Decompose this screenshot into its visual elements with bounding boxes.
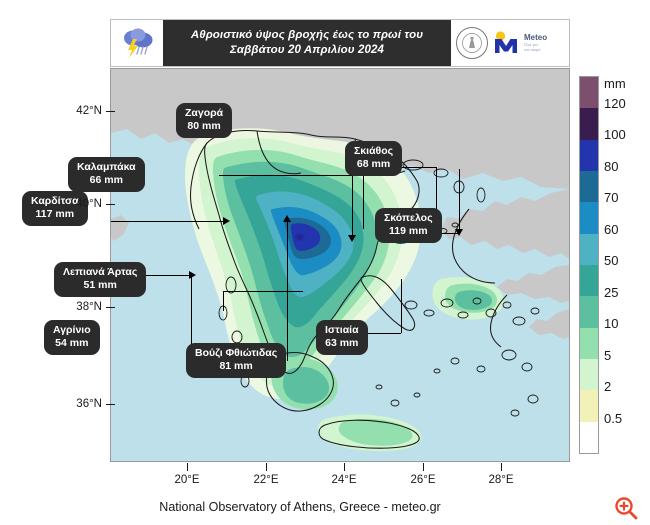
colorbar-band-10 <box>580 390 598 421</box>
callout-zagora-value: 80 mm <box>185 120 223 133</box>
zoom-in-icon[interactable] <box>613 495 639 521</box>
callout-zagora-name: Ζαγορά <box>185 107 223 119</box>
colorbar-band-4 <box>580 202 598 233</box>
xtick-mark-28e <box>501 463 502 471</box>
callout-lepiana-value: 51 mm <box>63 279 137 292</box>
callout-skopelos[interactable]: Σκόπελος 119 mm <box>375 208 442 243</box>
colorbar-band-5 <box>580 234 598 265</box>
callout-istiaia[interactable]: Ιστιαία 63 mm <box>316 320 368 355</box>
arrow-vouzi <box>283 215 291 222</box>
meteo-logo-name: Meteo <box>524 34 547 42</box>
callout-vouzi-name: Βούζι Φθιώτιδας <box>195 347 277 359</box>
callout-agrinio[interactable]: Αγρίνιο 54 mm <box>44 320 100 355</box>
callout-kalampaka-value: 66 mm <box>77 174 136 187</box>
meteo-logo: Meteo Όλα για τον καιρό <box>492 30 547 56</box>
header-banner: Αθροιστικό ύψος βροχής έως το πρωί του Σ… <box>110 19 570 67</box>
callout-agrinio-value: 54 mm <box>53 337 91 350</box>
colorbar-tick-05: 0.5 <box>604 411 622 426</box>
callout-kalampaka-name: Καλαμπάκα <box>77 161 136 173</box>
colorbar-band-6 <box>580 265 598 296</box>
colorbar-band-1 <box>580 108 598 139</box>
callout-skiathos-name: Σκιάθος <box>354 145 393 157</box>
weather-icon-box <box>111 20 163 66</box>
colorbar-tick-60: 60 <box>604 222 618 237</box>
colorbar-unit: mm <box>604 76 626 91</box>
colorbar-tick-2: 2 <box>604 379 611 394</box>
xtick-label-24e: 24°E <box>321 474 367 486</box>
colorbar-band-2 <box>580 140 598 171</box>
leader-karditsa <box>111 221 225 222</box>
colorbar-band-7 <box>580 296 598 327</box>
colorbar-band-8 <box>580 328 598 359</box>
colorbar-band-9 <box>580 359 598 390</box>
colorbar-tick-100: 100 <box>604 127 626 142</box>
leader-istiaia <box>401 279 402 333</box>
colorbar-tick-70: 70 <box>604 190 618 205</box>
ytick-mark-42n <box>106 111 115 112</box>
colorbar-band-11 <box>580 422 598 453</box>
colorbar-tick-5: 5 <box>604 348 611 363</box>
xtick-mark-26e <box>423 463 424 471</box>
callout-istiaia-value: 63 mm <box>325 337 359 350</box>
callout-skiathos-value: 68 mm <box>354 158 393 171</box>
callout-skopelos-name: Σκόπελος <box>384 212 433 224</box>
title-line-1: Αθροιστικό ύψος βροχής έως το πρωί του <box>191 28 423 43</box>
xtick-mark-24e <box>344 463 345 471</box>
title-line-2: Σαββάτου 20 Απριλίου 2024 <box>230 43 384 58</box>
ytick-mark-40n <box>106 204 115 205</box>
xtick-label-22e: 22°E <box>243 474 289 486</box>
ytick-label-36n: 36°N <box>56 398 102 410</box>
xtick-label-28e: 28°E <box>478 474 524 486</box>
header-logos: Meteo Όλα για τον καιρό <box>451 20 569 66</box>
callout-istiaia-name: Ιστιαία <box>325 324 359 336</box>
colorbar-tick-120: 120 <box>604 96 626 111</box>
callout-kalampaka[interactable]: Καλαμπάκα 66 mm <box>68 157 145 192</box>
callout-vouzi-value: 81 mm <box>195 360 277 373</box>
ytick-mark-38n <box>106 307 115 308</box>
callout-vouzi-fthiotidas[interactable]: Βούζι Φθιώτιδας 81 mm <box>186 343 286 378</box>
colorbar-band-0 <box>580 77 598 108</box>
callout-skiathos[interactable]: Σκιάθος 68 mm <box>345 141 402 176</box>
ytick-label-38n: 38°N <box>56 301 102 313</box>
ytick-mark-36n <box>106 404 115 405</box>
xtick-mark-22e <box>266 463 267 471</box>
meteo-logo-tagline-2: τον καιρό <box>524 47 547 52</box>
callout-skopelos-value: 119 mm <box>384 225 433 238</box>
xtick-label-20e: 20°E <box>164 474 210 486</box>
colorbar-tick-25: 25 <box>604 285 618 300</box>
xtick-label-26e: 26°E <box>400 474 446 486</box>
callout-lepiana-name: Λεπιανά Άρτας <box>63 266 137 278</box>
arrow-agrinio <box>189 271 196 279</box>
colorbar-tick-10: 10 <box>604 316 618 331</box>
thunderstorm-rain-icon <box>117 25 157 61</box>
ytick-label-42n: 42°N <box>56 105 102 117</box>
callout-agrinio-name: Αγρίνιο <box>53 324 91 336</box>
arrow-kalampaka <box>348 235 356 242</box>
footer-credit: National Observatory of Athens, Greece -… <box>0 500 600 514</box>
colorbar-band-3 <box>580 171 598 202</box>
callout-zagora[interactable]: Ζαγορά 80 mm <box>176 103 232 138</box>
leader-skopelos <box>459 169 460 231</box>
leader-kalampaka <box>219 175 353 176</box>
xtick-mark-20e <box>187 463 188 471</box>
header-title: Αθροιστικό ύψος βροχής έως το πρωί του Σ… <box>163 20 451 66</box>
noa-seal-icon <box>456 27 488 59</box>
arrow-karditsa <box>223 217 230 225</box>
colorbar[interactable] <box>579 76 599 454</box>
callout-lepiana-artas[interactable]: Λεπιανά Άρτας 51 mm <box>54 262 146 297</box>
leader-lepiana-h <box>223 291 303 292</box>
colorbar-tick-50: 50 <box>604 253 618 268</box>
leader-vouzi <box>287 219 288 361</box>
leader-lepiana <box>223 291 224 311</box>
ytick-label-40n: 40°N <box>56 198 102 210</box>
leader-kalampaka-v <box>352 175 353 237</box>
colorbar-tick-80: 80 <box>604 159 618 174</box>
